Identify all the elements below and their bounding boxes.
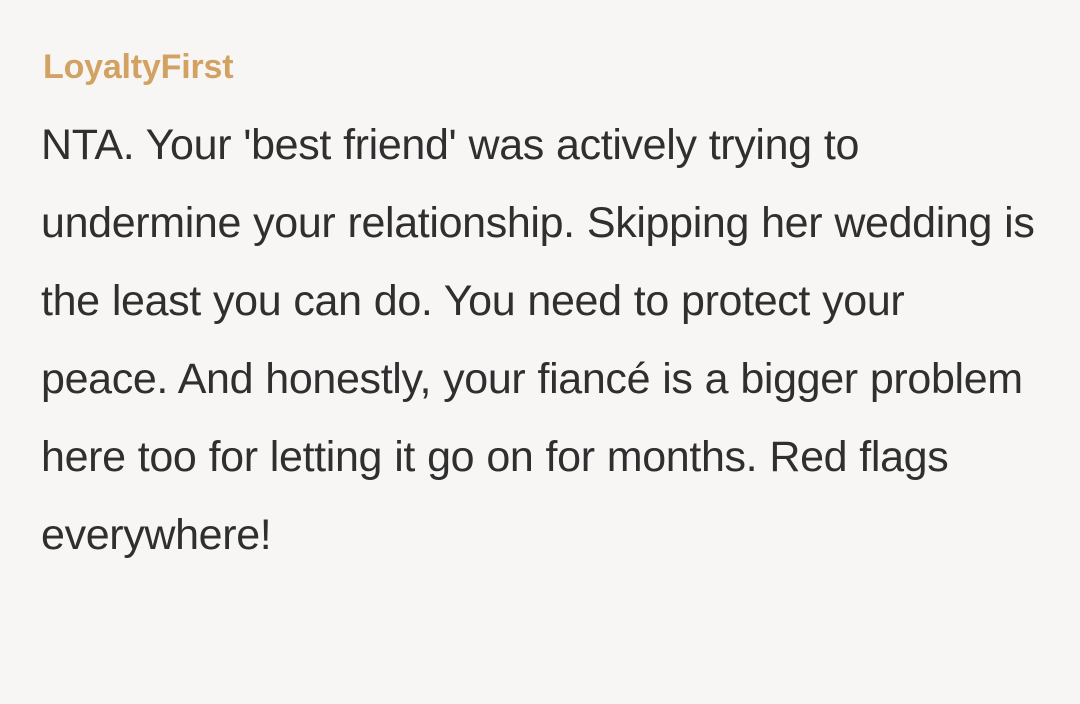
comment-body-text: NTA. Your 'best friend' was actively try… <box>41 84 1036 574</box>
comment-author-name[interactable]: LoyaltyFirst <box>43 40 1036 84</box>
comment-card: LoyaltyFirst NTA. Your 'best friend' was… <box>0 0 1080 704</box>
